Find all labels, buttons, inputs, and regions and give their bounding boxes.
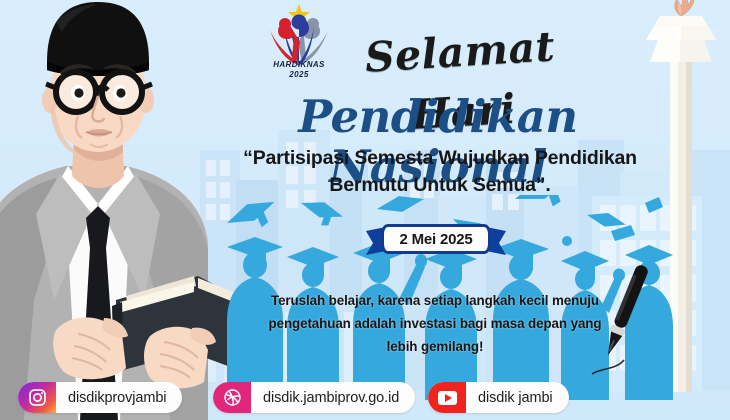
date-badge-label: 2 Mei 2025 xyxy=(399,231,472,248)
website-handle: disdik.jambiprov.go.id xyxy=(251,390,415,406)
social-media-bar: disdikprovjambi disdik.jambiprov.go.id d… xyxy=(0,374,730,420)
instagram-handle: disdikprovjambi xyxy=(56,390,182,406)
hardiknas-poster: HARDIKNAS 2025 Selamat Hari Pendidikan N… xyxy=(0,0,730,420)
portrait-svg xyxy=(0,0,244,420)
motivation-line-3: lebih gemilang! xyxy=(253,335,617,358)
hardiknas-logo-text: HARDIKNAS 2025 xyxy=(258,60,340,80)
tagline: “Partisipasi Semesta Wujudkan Pendidikan… xyxy=(240,145,640,199)
youtube-icon[interactable] xyxy=(428,382,466,413)
website-icon[interactable] xyxy=(213,382,251,413)
tagline-line-2: Bermutu Untuk Semua”. xyxy=(240,172,640,199)
tagline-line-1: “Partisipasi Semesta Wujudkan Pendidikan xyxy=(240,145,640,172)
instagram-icon[interactable] xyxy=(18,382,56,413)
date-badge: 2 Mei 2025 xyxy=(381,224,491,254)
motivation-line-1: Teruslah belajar, karena setiap langkah … xyxy=(253,289,617,312)
motivation-line-2: pengetahuan adalah investasi bagi masa d… xyxy=(253,312,617,335)
date-ribbon: 2 Mei 2025 xyxy=(381,224,491,254)
youtube-handle: disdik jambi xyxy=(466,390,569,406)
hardiknas-logo-svg xyxy=(258,2,340,68)
youtube-glyph xyxy=(438,391,457,405)
youtube-play-triangle xyxy=(445,394,452,402)
logo-year: 2025 xyxy=(258,70,340,80)
social-chip-youtube[interactable]: disdik jambi xyxy=(428,382,569,413)
social-chip-instagram[interactable]: disdikprovjambi xyxy=(18,382,182,413)
logo-title: HARDIKNAS xyxy=(258,60,340,70)
social-chip-website[interactable]: disdik.jambiprov.go.id xyxy=(213,382,415,413)
motivation-text: Teruslah belajar, karena setiap langkah … xyxy=(253,289,617,358)
ki-hajar-dewantara-illustration xyxy=(0,0,244,420)
